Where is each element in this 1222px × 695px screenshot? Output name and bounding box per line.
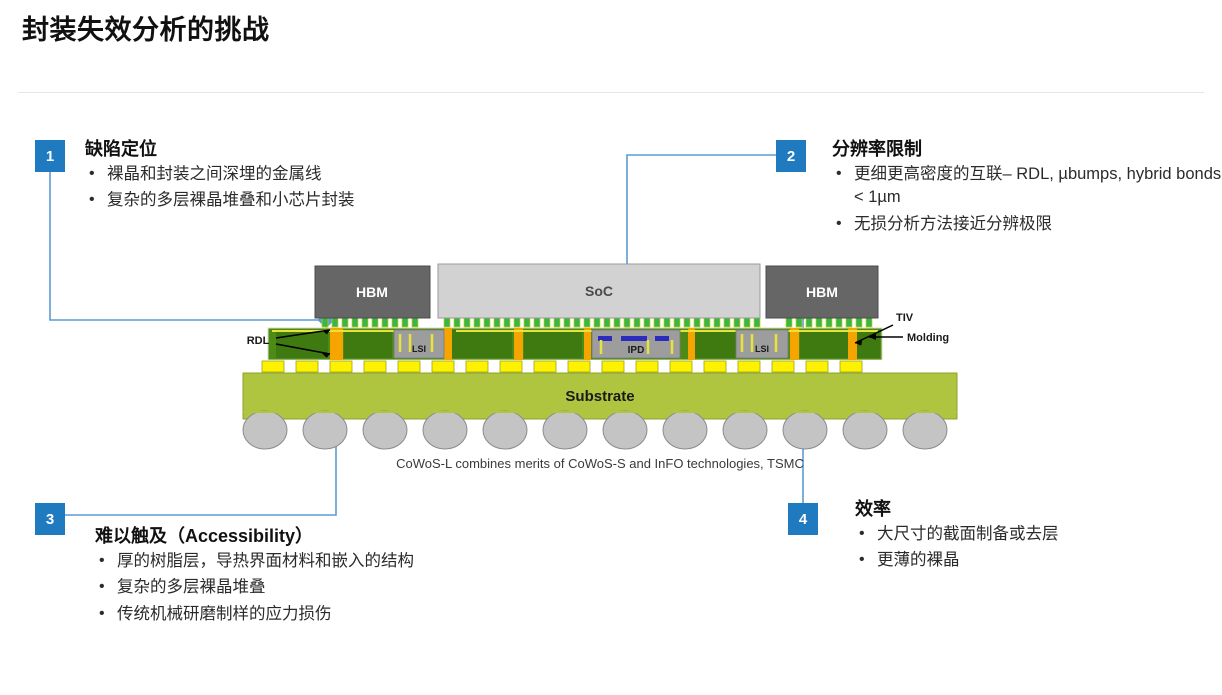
die-hbm-right: HBM [766,266,878,318]
package-cross-section-diagram: LSI IPD LSI [0,0,1222,695]
ipd-block: IPD [592,330,680,358]
c4-bump-row [248,360,884,374]
rdl-label: RDL [247,335,270,347]
die-label-soc: SoC [585,283,613,299]
die-hbm-left: HBM [315,266,430,318]
lsi-label-right: LSI [755,344,769,354]
molding-label: Molding [907,332,949,344]
microbump-row [322,318,872,327]
die-label-hbm-right: HBM [806,284,838,300]
tiv-label: TIV [896,312,914,324]
substrate-label: Substrate [565,388,634,405]
lsi-label-left: LSI [412,344,426,354]
die-label-hbm-left: HBM [356,284,388,300]
lsi-bridge-right: LSI [736,330,788,358]
diagram-caption: CoWoS-L combines merits of CoWoS-S and I… [396,456,804,471]
ipd-label: IPD [628,345,645,356]
die-soc: SoC [438,264,760,318]
lsi-bridge-left: LSI [394,330,444,358]
